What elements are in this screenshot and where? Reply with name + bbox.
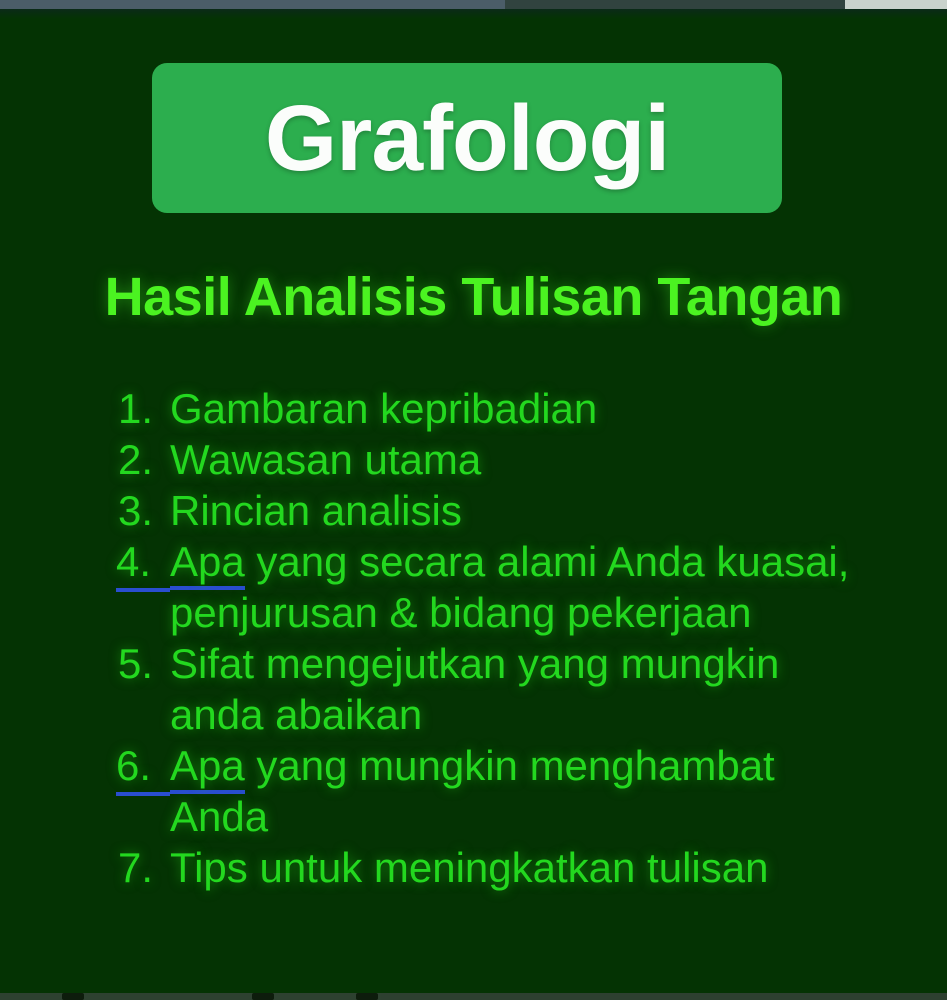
list-item: 4.Apa yang secara alami Anda kuasai,penj…: [116, 536, 878, 638]
status-bar-shadow: [0, 9, 947, 19]
list-item-first-word: Gambaran: [170, 385, 368, 432]
list-item-text: untuk meningkatkan tulisan: [248, 844, 769, 891]
list-item-first-word: Sifat: [170, 640, 254, 687]
list-item-body: Rincian analisis: [170, 485, 878, 536]
list-item: 5.Sifat mengejutkan yang mungkinanda aba…: [118, 638, 878, 740]
list-item-first-word[interactable]: Apa: [170, 538, 245, 590]
list-item-line: Tips untuk meningkatkan tulisan: [170, 842, 878, 893]
list-item-text: kepribadian: [368, 385, 597, 432]
list-item-marker: 2.: [118, 434, 170, 485]
home-icon[interactable]: [252, 993, 274, 1000]
list-item-body: Sifat mengejutkan yang mungkinanda abaik…: [170, 638, 878, 740]
list-item-first-word: Wawasan: [170, 436, 353, 483]
list-item-body: Wawasan utama: [170, 434, 878, 485]
back-icon[interactable]: [62, 993, 84, 1000]
list-item-text: utama: [353, 436, 481, 483]
list-item-body: Apa yang mungkin menghambatAnda: [170, 740, 878, 842]
status-bar-right-segment: [845, 0, 947, 9]
list-item-line-continued: penjurusan & bidang pekerjaan: [170, 587, 878, 638]
list-item-first-word[interactable]: Apa: [170, 742, 245, 794]
list-item: 3.Rincian analisis: [118, 485, 878, 536]
list-item-line: Apa yang mungkin menghambat: [170, 740, 878, 791]
status-bar: [0, 0, 947, 9]
list-item-line: Apa yang secara alami Anda kuasai,: [170, 536, 878, 587]
list-item-marker: 4.: [116, 536, 170, 592]
list-item-marker: 3.: [118, 485, 170, 536]
title-pill-label: Grafologi: [265, 92, 669, 185]
list-item: 6.Apa yang mungkin menghambatAnda: [116, 740, 878, 842]
screen: Grafologi Hasil Analisis Tulisan Tangan …: [0, 0, 947, 1000]
list-item-line: Wawasan utama: [170, 434, 878, 485]
list-item-body: Gambaran kepribadian: [170, 383, 878, 434]
list-item-line: Sifat mengejutkan yang mungkin: [170, 638, 878, 689]
list-item-marker: 7.: [118, 842, 170, 893]
list-item-line-continued: Anda: [170, 791, 878, 842]
list-item: 1.Gambaran kepribadian: [118, 383, 878, 434]
list-item-first-word: Rincian: [170, 487, 310, 534]
recents-icon[interactable]: [356, 993, 378, 1000]
list-item-first-word: Tips: [170, 844, 248, 891]
list-item: 2.Wawasan utama: [118, 434, 878, 485]
list-item-text: yang mungkin menghambat: [245, 742, 775, 789]
title-pill[interactable]: Grafologi: [152, 63, 782, 213]
list-item-marker: 6.: [116, 740, 170, 796]
list-item-body: Tips untuk meningkatkan tulisan: [170, 842, 878, 893]
list-item-text: mengejutkan yang mungkin: [254, 640, 779, 687]
status-bar-middle-segment: [505, 0, 845, 9]
list-item-marker: 5.: [118, 638, 170, 689]
list-item: 7.Tips untuk meningkatkan tulisan: [118, 842, 878, 893]
list-item-text: yang secara alami Anda kuasai,: [245, 538, 850, 585]
analysis-list: 1.Gambaran kepribadian2.Wawasan utama3.R…: [118, 383, 878, 893]
system-nav-bar: [0, 993, 947, 1000]
list-item-line-continued: anda abaikan: [170, 689, 878, 740]
list-item-line: Gambaran kepribadian: [170, 383, 878, 434]
list-item-body: Apa yang secara alami Anda kuasai,penjur…: [170, 536, 878, 638]
list-item-text: analisis: [310, 487, 462, 534]
list-item-line: Rincian analisis: [170, 485, 878, 536]
page-title: Hasil Analisis Tulisan Tangan: [0, 268, 947, 327]
list-item-marker: 1.: [118, 383, 170, 434]
status-bar-left-segment: [0, 0, 505, 9]
